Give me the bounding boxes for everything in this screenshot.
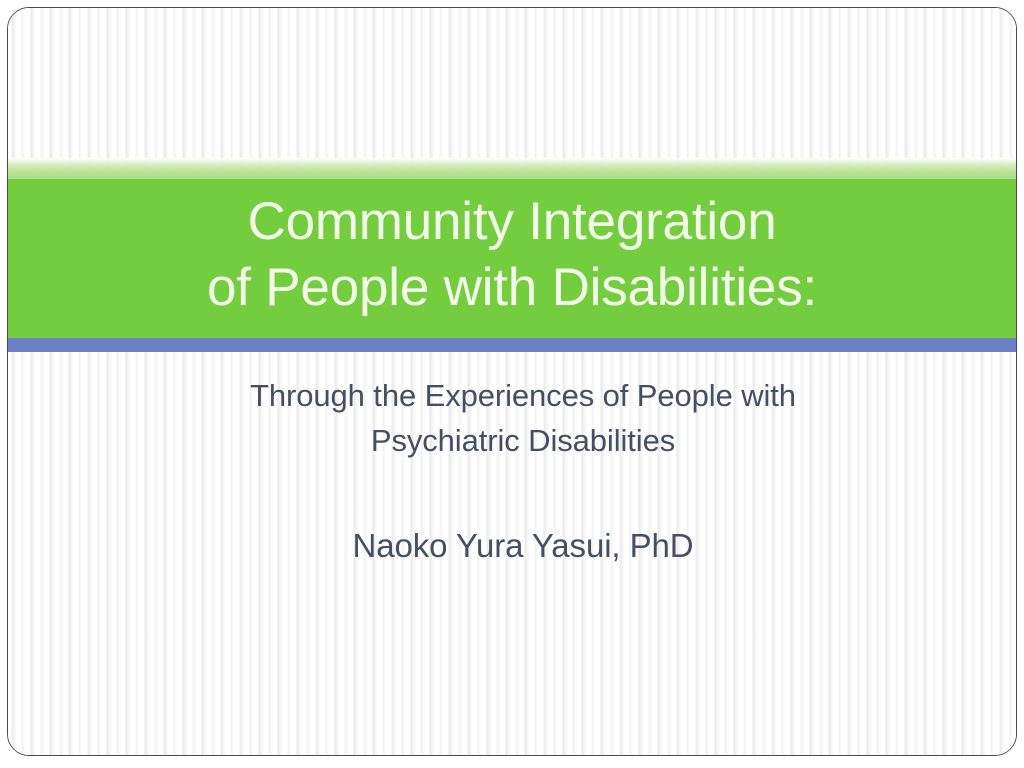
banner-top-gradient [8,158,1016,179]
title-line-1: Community Integration [8,189,1016,255]
page-subtitle: Through the Experiences of People with P… [128,373,918,463]
title-line-2: of People with Disabilities: [8,255,1016,321]
page-title: Community Integration of People with Dis… [8,189,1016,321]
banner-blue-rule [8,338,1016,352]
subtitle-line-2: Psychiatric Disabilities [128,418,918,463]
author-name: Naoko Yura Yasui, PhD [128,524,918,568]
subtitle-line-1: Through the Experiences of People with [128,373,918,418]
slide-root: Community Integration of People with Dis… [0,0,1024,768]
author-credit: Naoko Yura Yasui, PhD [128,524,918,568]
slide-frame: Community Integration of People with Dis… [7,7,1017,756]
